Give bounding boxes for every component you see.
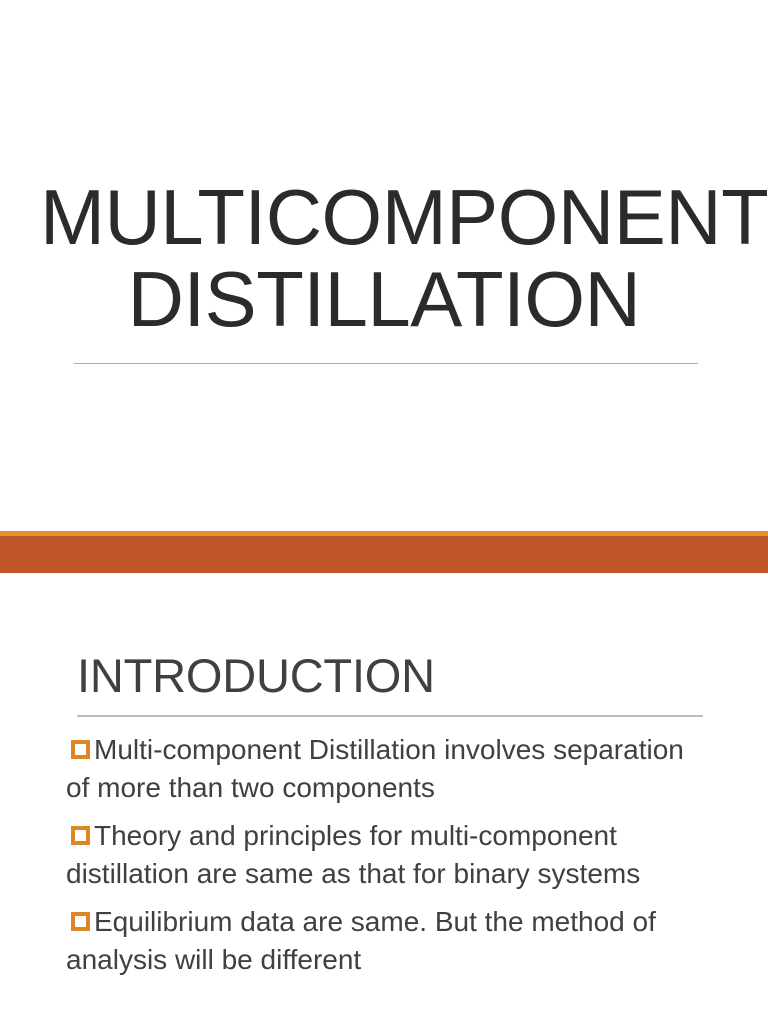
section-heading-rule [77,715,703,717]
list-item-text: Multi-component Distillation involves se… [66,734,684,803]
list-item-text: Theory and principles for multi-componen… [66,820,640,889]
title-divider-rule [74,363,698,364]
page-title: MULTICOMPONENT DISTILLATION [40,176,728,340]
introduction-bullet-list: Multi-component Distillation involves se… [66,731,714,979]
square-bullet-icon [71,740,90,759]
section-heading-introduction: INTRODUCTION [77,648,435,704]
title-slide: MULTICOMPONENT DISTILLATION [0,0,768,531]
accent-band-thick [0,536,768,573]
list-item-text: Equilibrium data are same. But the metho… [66,906,656,975]
square-bullet-icon [71,912,90,931]
list-item: Equilibrium data are same. But the metho… [66,903,714,979]
list-item: Theory and principles for multi-componen… [66,817,714,893]
list-item: Multi-component Distillation involves se… [66,731,714,807]
square-bullet-icon [71,826,90,845]
